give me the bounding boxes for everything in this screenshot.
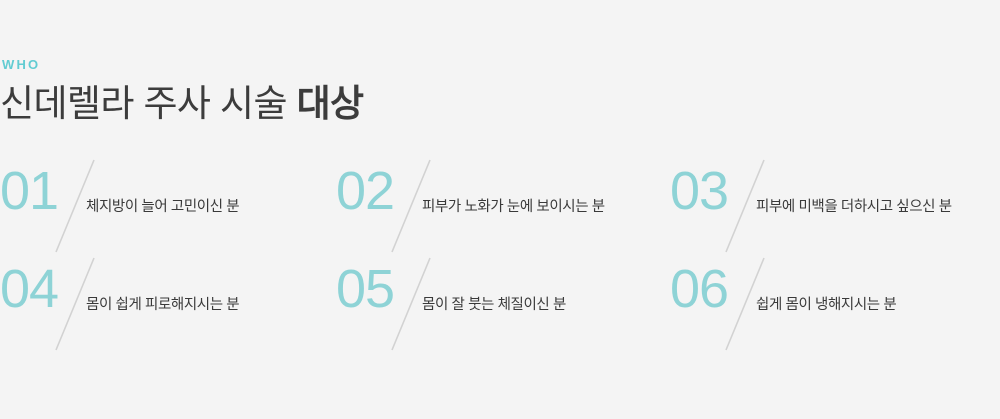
item-description: 몸이 잘 붓는 체질이신 분: [422, 293, 566, 317]
item-number: 01: [0, 164, 58, 218]
item-number-wrap: 04: [0, 256, 80, 354]
item-number-wrap: 05: [336, 256, 416, 354]
item-number-wrap: 06: [670, 256, 750, 354]
list-item: 01 체지방이 늘어 고민이신 분: [0, 158, 336, 256]
who-section: WHO 신데렐라 주사 시술 대상 01 체지방이 늘어 고민이신 분 02: [0, 0, 1000, 419]
item-description: 체지방이 늘어 고민이신 분: [86, 195, 239, 219]
item-number: 03: [670, 164, 728, 218]
item-number: 06: [670, 262, 728, 316]
item-number: 05: [336, 262, 394, 316]
item-number-wrap: 01: [0, 158, 80, 256]
section-header: WHO 신데렐라 주사 시술 대상: [0, 58, 640, 126]
page-title: 신데렐라 주사 시술 대상: [0, 82, 640, 126]
item-number-wrap: 03: [670, 158, 750, 256]
item-number-wrap: 02: [336, 158, 416, 256]
page-title-light-part: 신데렐라 주사 시술: [0, 83, 297, 124]
list-item: 02 피부가 노화가 눈에 보이시는 분: [336, 158, 670, 256]
item-description: 몸이 쉽게 피로해지시는 분: [86, 293, 239, 317]
item-number: 02: [336, 164, 394, 218]
item-description: 쉽게 몸이 냉해지시는 분: [756, 293, 896, 317]
criteria-list: 01 체지방이 늘어 고민이신 분 02 피부가 노화가 눈에 보이시는 분: [0, 158, 1000, 354]
section-eyebrow-label: WHO: [2, 58, 640, 71]
list-item: 04 몸이 쉽게 피로해지시는 분: [0, 256, 336, 354]
item-description: 피부가 노화가 눈에 보이시는 분: [422, 195, 605, 219]
list-item: 03 피부에 미백을 더하시고 싶으신 분: [670, 158, 1000, 256]
list-item: 05 몸이 잘 붓는 체질이신 분: [336, 256, 670, 354]
item-number: 04: [0, 262, 58, 316]
item-description: 피부에 미백을 더하시고 싶으신 분: [756, 195, 952, 219]
page-title-strong-part: 대상: [297, 83, 364, 124]
list-item: 06 쉽게 몸이 냉해지시는 분: [670, 256, 1000, 354]
